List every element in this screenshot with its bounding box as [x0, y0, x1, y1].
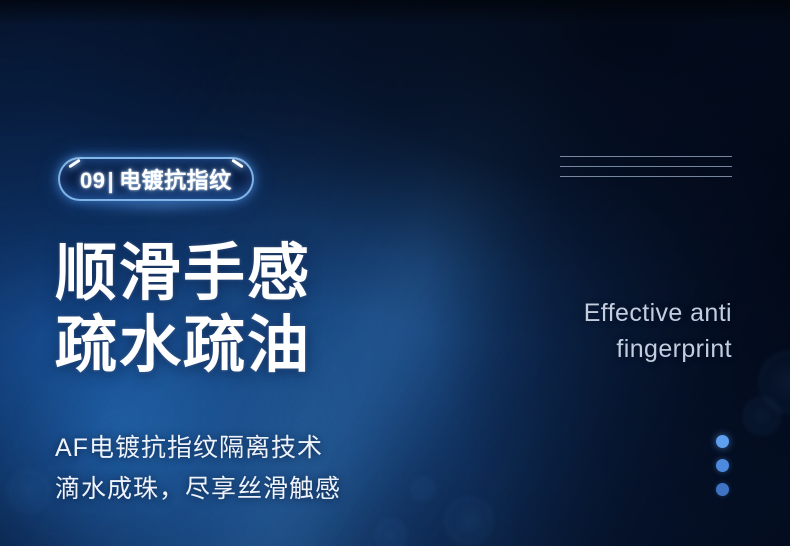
section-badge[interactable]: 09|电镀抗指纹 — [58, 157, 254, 201]
subtitle-line-1: AF电镀抗指纹隔离技术 — [55, 428, 341, 469]
product-feature-banner: 09|电镀抗指纹 顺滑手感 疏水疏油 AF电镀抗指纹隔离技术 滴水成珠，尽享丝滑… — [0, 0, 790, 546]
decorative-rules — [560, 156, 732, 177]
badge-separator: | — [107, 168, 114, 193]
dot-dim — [716, 483, 729, 496]
english-line-1: Effective anti — [432, 295, 732, 331]
tick-accent-icon — [231, 159, 243, 169]
decorative-rule-2 — [560, 166, 732, 167]
subtitle-line-2: 滴水成珠，尽享丝滑触感 — [55, 469, 341, 510]
headline-line-1: 顺滑手感 — [55, 238, 311, 310]
english-line-2: fingerprint — [432, 331, 732, 367]
badge-number: 09 — [80, 168, 105, 193]
dot-bright — [716, 435, 729, 448]
badge-content: 09|电镀抗指纹 — [80, 163, 232, 195]
headline-line-2: 疏水疏油 — [55, 310, 311, 382]
badge-label: 电镀抗指纹 — [119, 168, 232, 193]
tick-accent-icon — [68, 159, 80, 169]
subtitle: AF电镀抗指纹隔离技术 滴水成珠，尽享丝滑触感 — [55, 428, 341, 509]
background-top-fade — [0, 0, 790, 26]
english-caption: Effective anti fingerprint — [432, 295, 732, 367]
decorative-rule-3 — [560, 176, 732, 177]
dot-medium — [716, 459, 729, 472]
headline: 顺滑手感 疏水疏油 — [55, 238, 311, 382]
decorative-dots — [716, 435, 729, 496]
decorative-rule-1 — [560, 156, 732, 157]
